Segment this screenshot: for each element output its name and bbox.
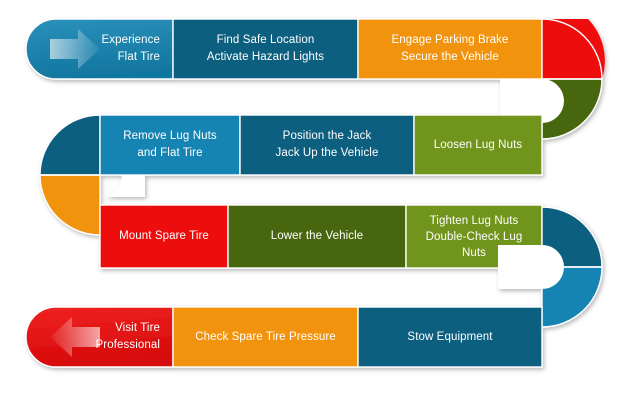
segment-lower-the-vehicle[interactable]: [228, 205, 406, 268]
segment-stow-equipment[interactable]: [358, 307, 542, 367]
segment-mount-spare-tire[interactable]: [100, 205, 228, 268]
flowchart-canvas: Experience Flat Tire Find Safe Location …: [0, 0, 640, 400]
segment-check-spare-tire-pressure[interactable]: [173, 307, 358, 367]
segment-loosen-lug-nuts[interactable]: [414, 115, 542, 175]
flow-path-graphics: [0, 0, 640, 400]
segment-remove-lug-nuts-and-flat-tire[interactable]: [100, 115, 240, 175]
segment-find-safe-location[interactable]: [173, 19, 358, 79]
turn-right-1: [542, 19, 605, 139]
segment-engage-parking-brake[interactable]: [358, 19, 542, 79]
segment-position-the-jack[interactable]: [240, 115, 414, 175]
turn-left-1: [40, 115, 100, 235]
